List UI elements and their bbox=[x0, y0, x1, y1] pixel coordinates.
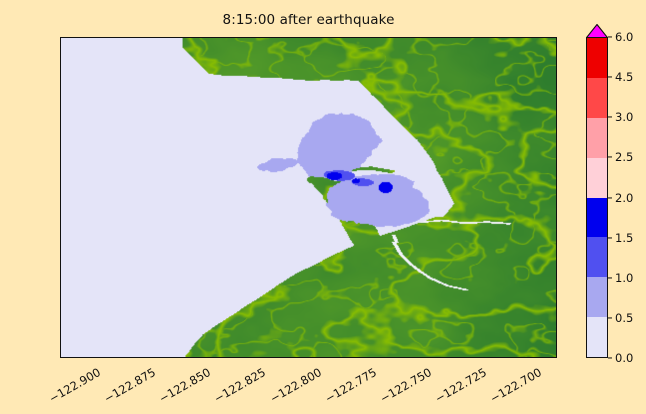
x-tick-mark bbox=[530, 357, 531, 358]
x-tick-label-6: −122.750 bbox=[377, 365, 434, 406]
figure-canvas: 8:15:00 after earthquake 49.0249.0048.98… bbox=[0, 0, 646, 414]
colorbar-segment-5 bbox=[587, 118, 607, 158]
colorbar-tick-label-6: 3.0 bbox=[615, 110, 633, 124]
colorbar-tick-mark bbox=[608, 117, 612, 118]
colorbar-tick-mark bbox=[608, 277, 612, 278]
x-tick-label-5: −122.775 bbox=[322, 365, 379, 406]
colorbar-segment-6 bbox=[587, 78, 607, 118]
y-tick-mark bbox=[60, 275, 61, 276]
colorbar-segment-2 bbox=[587, 237, 607, 277]
colorbar-tick-label-4: 2.0 bbox=[615, 191, 633, 205]
colorbar-segment-4 bbox=[587, 158, 607, 198]
colorbar-segment-0 bbox=[587, 317, 607, 357]
colorbar-tick-mark bbox=[608, 77, 612, 78]
colorbar-tick-mark bbox=[608, 36, 612, 37]
x-tick-mark bbox=[419, 357, 420, 358]
x-tick-mark bbox=[364, 357, 365, 358]
x-tick-label-0: −122.900 bbox=[46, 365, 103, 406]
x-tick-label-1: −122.875 bbox=[101, 365, 158, 406]
colorbar-tick-mark bbox=[608, 317, 612, 318]
colorbar-segment-3 bbox=[587, 198, 607, 238]
colorbar-tick-mark bbox=[608, 357, 612, 358]
x-tick-label-4: −122.800 bbox=[267, 365, 324, 406]
colorbar-tick-label-2: 1.0 bbox=[615, 271, 633, 285]
colorbar-segment-7 bbox=[587, 38, 607, 78]
x-tick-mark bbox=[309, 357, 310, 358]
colorbar-segment-1 bbox=[587, 277, 607, 317]
x-tick-mark bbox=[88, 357, 89, 358]
colorbar-tick-label-1: 0.5 bbox=[615, 311, 633, 325]
y-tick-mark bbox=[60, 138, 61, 139]
colorbar-tick-label-3: 1.5 bbox=[615, 231, 633, 245]
x-tick-label-7: −122.725 bbox=[433, 365, 490, 406]
x-tick-label-3: −122.825 bbox=[212, 365, 269, 406]
x-tick-mark bbox=[199, 357, 200, 358]
x-tick-label-8: −122.700 bbox=[488, 365, 545, 406]
tsunami-inundation-map bbox=[61, 38, 556, 357]
map-axes[interactable]: 49.0249.0048.9848.9648.94 bbox=[60, 37, 557, 358]
y-tick-mark bbox=[60, 343, 61, 344]
x-tick-mark bbox=[254, 357, 255, 358]
colorbar-gradient bbox=[586, 37, 608, 358]
colorbar-tick-label-7: 4.5 bbox=[615, 70, 633, 84]
colorbar-extend-arrow-icon bbox=[586, 24, 608, 38]
x-tick-mark bbox=[475, 357, 476, 358]
colorbar-tick-mark bbox=[608, 197, 612, 198]
y-tick-mark bbox=[60, 70, 61, 71]
colorbar-tick-label-8: 6.0 bbox=[615, 30, 633, 44]
colorbar-tick-label-5: 2.5 bbox=[615, 150, 633, 164]
page-title: 8:15:00 after earthquake bbox=[60, 12, 557, 28]
colorbar-tick-mark bbox=[608, 237, 612, 238]
colorbar[interactable]: 0.00.51.01.52.02.53.04.56.0 bbox=[586, 24, 608, 358]
colorbar-tick-label-0: 0.0 bbox=[615, 351, 633, 365]
x-tick-label-2: −122.850 bbox=[157, 365, 214, 406]
y-tick-mark bbox=[60, 206, 61, 207]
colorbar-tick-mark bbox=[608, 157, 612, 158]
x-tick-mark bbox=[143, 357, 144, 358]
